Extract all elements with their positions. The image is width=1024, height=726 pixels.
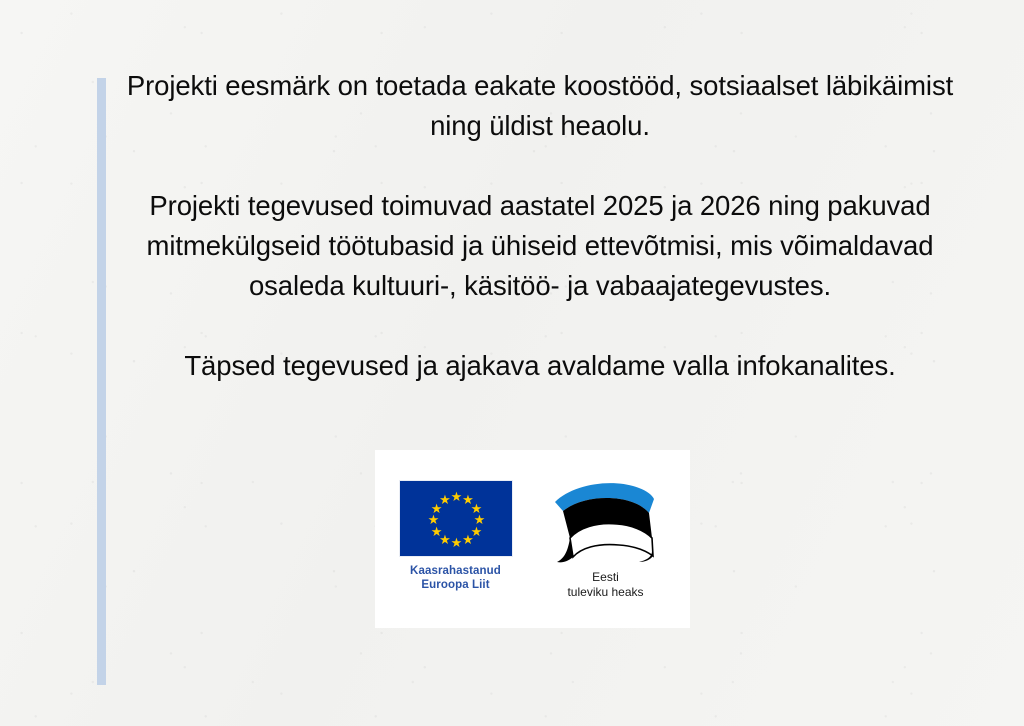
- eu-caption-line-2: Euroopa Liit: [410, 578, 501, 592]
- slide-canvas: Projekti eesmärk on toetada eakate koost…: [0, 0, 1024, 726]
- paragraph-3: Täpsed tegevused ja ajakava avaldame val…: [100, 346, 980, 386]
- funding-logos-panel: ★★★★★★★★★★★★ Kaasrahastanud Euroopa Liit…: [375, 450, 690, 628]
- estonia-caption-line-2: tuleviku heaks: [567, 585, 643, 600]
- eu-logo-lockup: ★★★★★★★★★★★★ Kaasrahastanud Euroopa Liit: [396, 480, 516, 592]
- eu-star-icon: ★: [462, 533, 475, 546]
- estonia-caption-line-1: Eesti: [567, 570, 643, 585]
- paragraph-2: Projekti tegevused toimuvad aastatel 202…: [100, 186, 980, 306]
- body-text-block: Projekti eesmärk on toetada eakate koost…: [100, 66, 980, 386]
- eu-star-icon: ★: [439, 493, 452, 506]
- eu-logo-caption: Kaasrahastanud Euroopa Liit: [410, 564, 501, 592]
- eu-caption-line-1: Kaasrahastanud: [410, 564, 501, 578]
- estonia-logo-caption: Eesti tuleviku heaks: [567, 570, 643, 600]
- eu-star-icon: ★: [450, 536, 463, 549]
- estonia-logo-lockup: Eesti tuleviku heaks: [542, 480, 670, 600]
- estonian-flag-swoosh-icon: [551, 480, 661, 566]
- paragraph-1: Projekti eesmärk on toetada eakate koost…: [100, 66, 980, 146]
- eu-flag-icon: ★★★★★★★★★★★★: [399, 480, 513, 557]
